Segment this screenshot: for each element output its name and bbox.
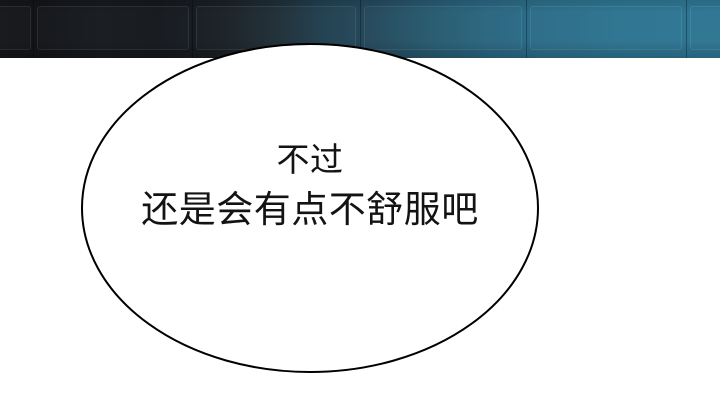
speech-bubble-text: 不过 还是会有点不舒服吧 xyxy=(82,140,538,232)
comic-panel-screen: 不过 还是会有点不舒服吧 xyxy=(0,0,720,412)
dialogue-line-1: 不过 xyxy=(82,140,538,180)
dialogue-line-2: 还是会有点不舒服吧 xyxy=(82,187,538,232)
